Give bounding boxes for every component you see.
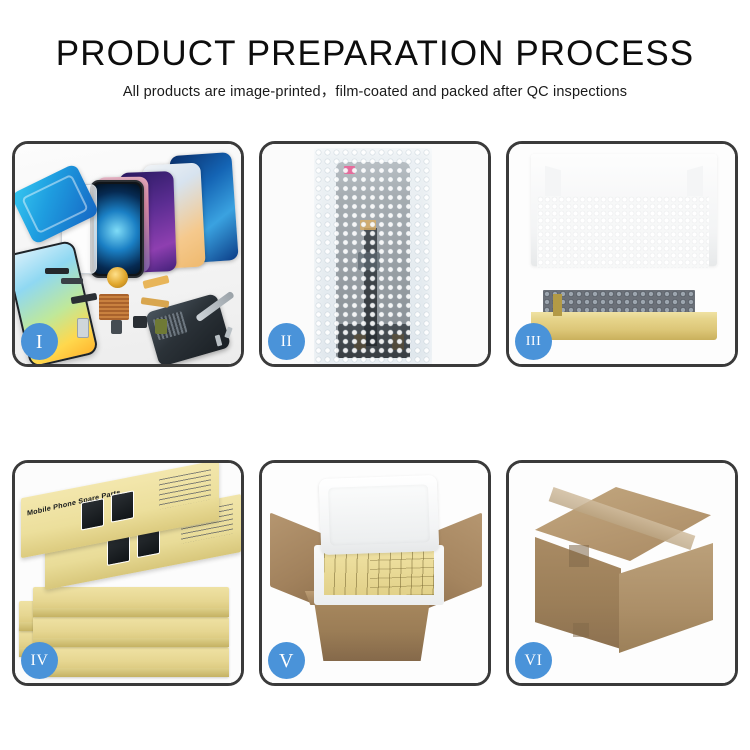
- step-badge-3: III: [515, 323, 552, 360]
- foam-padding: [537, 196, 709, 268]
- phone-display-1: [90, 180, 144, 278]
- box-tray-yellow: [531, 318, 717, 340]
- battery-part: [155, 319, 167, 334]
- step-panel-2: II: [259, 141, 491, 367]
- flex-cable-part-4: [61, 278, 83, 284]
- bubble-texture: [314, 148, 432, 364]
- sim-tray-part: [77, 318, 89, 338]
- yellow-boxes-inside: [324, 551, 434, 595]
- flex-cable-part-2: [141, 297, 170, 308]
- flex-cable-part-1: [142, 275, 169, 289]
- stacked-box-front-3: [33, 647, 229, 677]
- process-steps-grid: I II: [12, 141, 738, 686]
- header: PRODUCT PREPARATION PROCESS All products…: [0, 34, 750, 101]
- step-panel-1: I: [12, 141, 244, 367]
- step-panel-3: III: [506, 141, 738, 367]
- page-subtitle: All products are image-printed，film-coat…: [0, 83, 750, 101]
- step-badge-1: I: [21, 323, 58, 360]
- step-panel-5: V: [259, 460, 491, 686]
- carton-right-face: [619, 543, 713, 653]
- product-preparation-infographic: PRODUCT PREPARATION PROCESS All products…: [0, 0, 750, 750]
- carton-tab-2: [573, 623, 589, 637]
- box-print-textlines-1: [159, 469, 211, 509]
- foam-insert-lid: [319, 475, 440, 555]
- step-badge-5: V: [268, 642, 305, 679]
- stacked-box-front-2: [33, 617, 229, 647]
- step-badge-6: VI: [515, 642, 552, 679]
- stacked-box-front-1: [33, 587, 229, 617]
- step-panel-4: Mobile Phone Spare Parts Mobile Phone Sp…: [12, 460, 244, 686]
- sealed-carton: [517, 481, 725, 665]
- step-panel-6: VI: [506, 460, 738, 686]
- camera-module-part: [133, 316, 147, 328]
- box-print-phone-2: [111, 490, 134, 522]
- page-title: PRODUCT PREPARATION PROCESS: [0, 34, 750, 74]
- carton-tab-1: [569, 545, 589, 567]
- box-print-phone-1: [81, 498, 104, 530]
- earpiece-part: [45, 268, 69, 274]
- box-print-label-1: Mobile Phone Spare Parts: [27, 487, 121, 517]
- speaker-coil-part: [107, 267, 128, 288]
- vibrator-part: [111, 320, 122, 334]
- copper-mesh-part: [99, 294, 129, 320]
- step-badge-2: II: [268, 323, 305, 360]
- box-tray-side: [553, 294, 562, 316]
- bubble-wrap-bag: [314, 148, 432, 364]
- step-badge-4: IV: [21, 642, 58, 679]
